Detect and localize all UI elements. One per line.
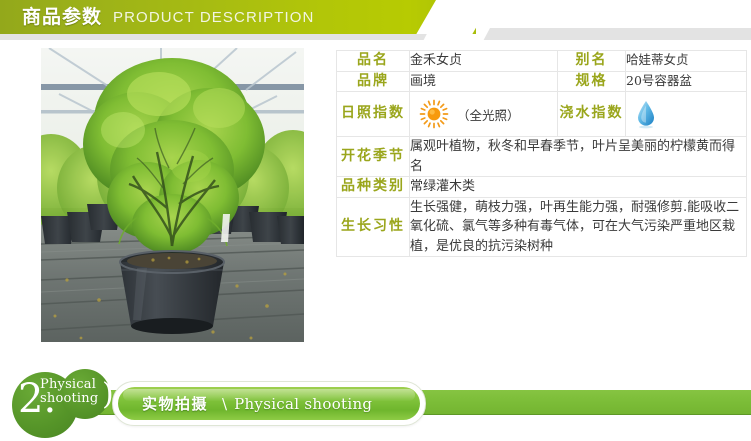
product-photo	[41, 48, 304, 342]
table-row: 生长习性 生长强健，萌枝力强，叶再生能力强，耐强修剪.能吸收二氧化硫、氯气等多种…	[337, 197, 747, 257]
badge-swoosh-icon: )	[102, 380, 114, 410]
spec-value-specification: 20号容器盆	[626, 71, 747, 92]
spec-value-watering-index	[626, 92, 747, 137]
watering-icon-cell	[626, 95, 746, 133]
spec-label-product-name: 品名	[337, 51, 410, 72]
footer-label-cn: 实物拍摄	[142, 393, 208, 414]
table-row: 日照指数	[337, 92, 747, 137]
spec-value-alias: 哈娃蒂女贞	[626, 51, 747, 72]
table-row: 品种类别 常绿灌木类	[337, 177, 747, 198]
spec-label-variety-category: 品种类别	[337, 177, 410, 198]
badge-text: Physicalshooting	[40, 378, 98, 406]
spec-label-specification: 规格	[558, 71, 626, 92]
page-header: 商品参数 PRODUCT DESCRIPTION	[0, 0, 751, 46]
badge-text-line2: shooting	[40, 391, 98, 406]
spec-label-growth-habit: 生长习性	[337, 197, 410, 257]
spec-label-watering-index: 浇水指数	[558, 92, 626, 137]
product-spec-table: 品名 金禾女贞 别名 哈娃蒂女贞 品牌 画境 规格 20号容器盆 日照指数	[336, 50, 747, 257]
badge-text-line1: Physical	[40, 377, 96, 392]
spec-label-sunlight-index-text: 日照指数	[341, 105, 405, 121]
spec-label-alias: 别名	[558, 51, 626, 72]
footer-pill-inner: 实物拍摄 \ Physical shooting	[118, 387, 420, 420]
header-title-group: 商品参数 PRODUCT DESCRIPTION	[0, 0, 315, 34]
spec-value-flowering-season: 属观叶植物，秋冬和早春季节，叶片呈美丽的柠檬黄而得名	[410, 137, 747, 177]
table-row: 开花季节 属观叶植物，秋冬和早春季节，叶片呈美丽的柠檬黄而得名	[337, 137, 747, 177]
spec-label-watering-index-text: 浇水指数	[560, 105, 624, 121]
footer-label-en: Physical shooting	[234, 395, 372, 413]
page-title-en: PRODUCT DESCRIPTION	[113, 10, 314, 25]
section-number-badge: 2. Physicalshooting )	[4, 368, 128, 441]
water-drop-icon	[635, 99, 657, 129]
table-row: 品牌 画境 规格 20号容器盆	[337, 71, 747, 92]
spec-value-brand: 画境	[410, 71, 558, 92]
spec-value-variety-category: 常绿灌木类	[410, 177, 747, 198]
spec-value-product-name: 金禾女贞	[410, 51, 558, 72]
footer-pill: 实物拍摄 \ Physical shooting	[112, 381, 426, 426]
sunlight-icon-cell: （全光照）	[410, 95, 557, 133]
footer-separator: \	[222, 395, 227, 413]
sun-icon	[419, 99, 449, 129]
section-footer: 实物拍摄 \ Physical shooting 2. Physicalshoo…	[0, 368, 751, 441]
spec-value-growth-habit: 生长强健，萌枝力强，叶再生能力强，耐强修剪.能吸收二氧化硫、氯气等多种有毒气体，…	[410, 197, 747, 257]
sunlight-note: （全光照）	[457, 105, 520, 124]
page-title-cn: 商品参数	[22, 8, 102, 27]
spec-label-sunlight-index: 日照指数	[337, 92, 410, 137]
product-photo-image	[41, 48, 304, 342]
spec-label-flowering-season: 开花季节	[337, 137, 410, 177]
table-row: 品名 金禾女贞 别名 哈娃蒂女贞	[337, 51, 747, 72]
spec-label-brand: 品牌	[337, 71, 410, 92]
spec-value-sunlight-index: （全光照）	[410, 92, 558, 137]
